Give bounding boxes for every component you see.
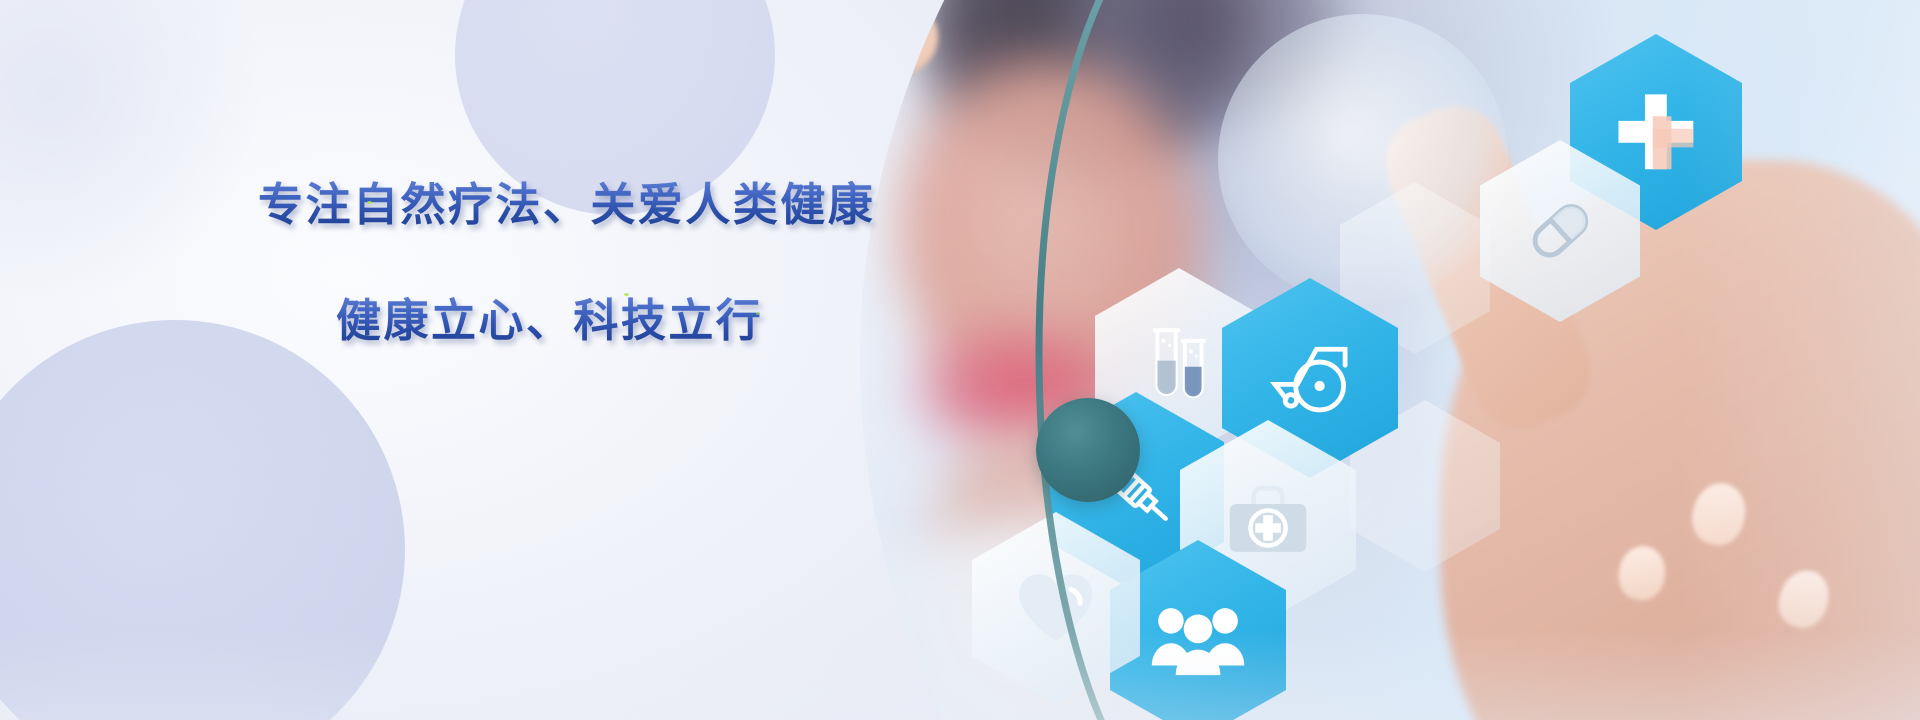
headline-line-2: 健康立心、科技立行: [336, 294, 1018, 348]
wheelchair-icon: [1259, 320, 1361, 436]
sparkle-dot: [756, 312, 760, 315]
health-hero-banner: 专注自然疗法、关爱人类健康 健康立心、科技立行: [0, 0, 1920, 720]
capsule-pill-icon: [1514, 178, 1607, 284]
headline-line-1: 专注自然疗法、关爱人类健康: [258, 178, 1018, 232]
sparkle-dot: [367, 201, 372, 204]
fingertip: [860, 0, 938, 74]
family-group-icon: [1147, 582, 1249, 698]
teal-arc-node: [1036, 398, 1140, 502]
headline-block: 专注自然疗法、关爱人类健康 健康立心、科技立行: [258, 178, 1018, 348]
lavender-circle-bottom: [0, 320, 405, 720]
medical-hexagon-cluster: [1100, 0, 1920, 720]
medical-cross-icon: [1606, 75, 1706, 189]
heart-icon: [1007, 552, 1104, 663]
sparkle-dot: [624, 293, 629, 296]
soft-glow-left: [0, 0, 260, 300]
